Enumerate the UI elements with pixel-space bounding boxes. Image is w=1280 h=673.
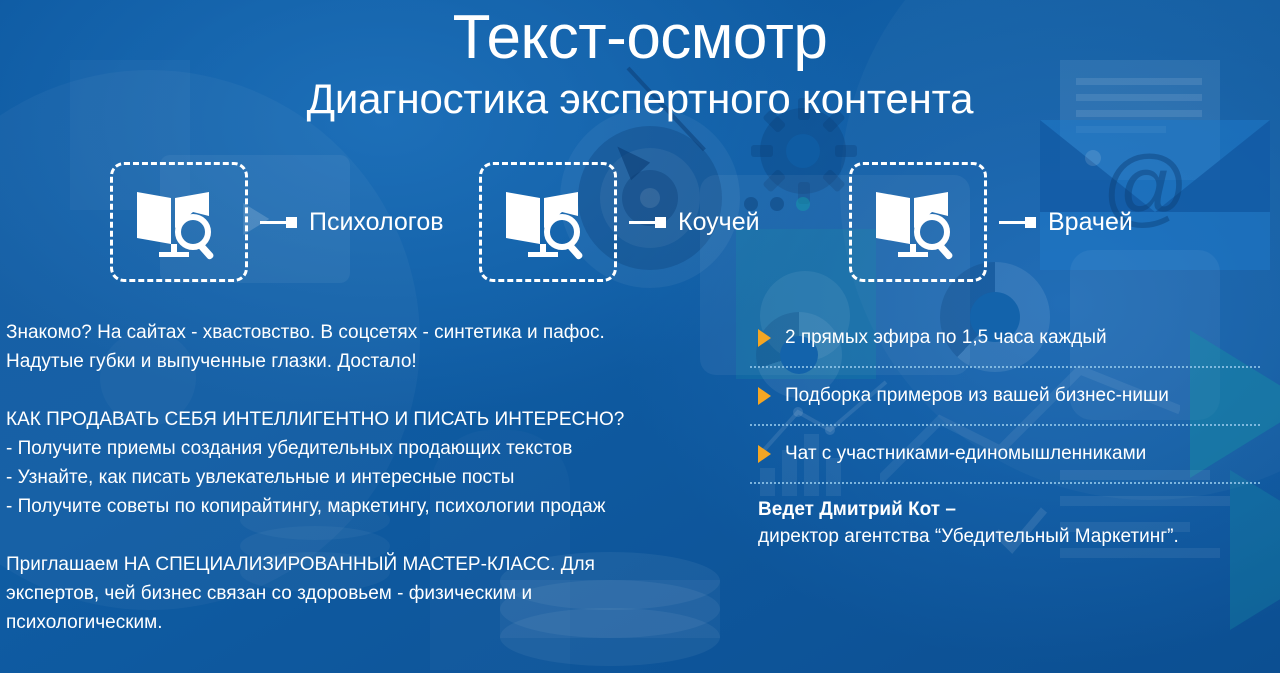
- hero-section: Текст-осмотр Диагностика экспертного кон…: [0, 0, 1280, 121]
- audience-card-frame: [110, 162, 248, 282]
- audience-card-coaches[interactable]: Коучей: [479, 162, 760, 282]
- intro-line-2: Надутые губки и выпученные глазки. Доста…: [6, 347, 712, 376]
- feature-text: 2 прямых эфира по 1,5 часа каждый: [785, 325, 1107, 351]
- offer-heading: КАК ПРОДАВАТЬ СЕБЯ ИНТЕЛЛИГЕНТНО И ПИСАТ…: [6, 405, 712, 434]
- landing-page: Текст-осмотр Диагностика экспертного кон…: [0, 0, 1280, 673]
- invite-line-3: психологическим.: [6, 608, 712, 637]
- triangle-right-icon: [758, 329, 771, 347]
- feature-divider: [750, 424, 1260, 426]
- feature-item: 2 прямых эфира по 1,5 часа каждый: [748, 316, 1260, 360]
- audience-card-label: Психологов: [309, 208, 444, 237]
- offer-item-1: - Получите приемы создания убедительных …: [6, 434, 712, 463]
- card-connector: [260, 217, 297, 228]
- connector-line: [629, 221, 655, 224]
- page-title: Текст-осмотр: [0, 6, 1280, 70]
- audience-card-frame: [849, 162, 987, 282]
- connector-square: [286, 217, 297, 228]
- page-subtitle: Диагностика экспертного контента: [0, 76, 1280, 121]
- connector-square: [1025, 217, 1036, 228]
- card-connector: [999, 217, 1036, 228]
- audience-card-frame: [479, 162, 617, 282]
- triangle-right-icon: [758, 445, 771, 463]
- connector-line: [999, 221, 1025, 224]
- feature-text: Чат с участниками-единомышленниками: [785, 441, 1146, 467]
- book-magnifier-icon: [131, 182, 227, 262]
- feature-item: Подборка примеров из вашей бизнес-ниши: [748, 374, 1260, 418]
- feature-text: Подборка примеров из вашей бизнес-ниши: [785, 383, 1169, 409]
- audience-card-doctors[interactable]: Врачей: [849, 162, 1133, 282]
- host-info: Ведет Дмитрий Кот – директор агентства “…: [758, 496, 1260, 550]
- feature-item: Чат с участниками-единомышленниками: [748, 432, 1260, 476]
- host-role: директор агентства “Убедительный Маркети…: [758, 523, 1260, 550]
- offer-item-3: - Получите советы по копирайтингу, марке…: [6, 492, 712, 521]
- audience-card-label: Коучей: [678, 208, 760, 237]
- card-connector: [629, 217, 666, 228]
- right-feature-column: 2 прямых эфира по 1,5 часа каждый Подбор…: [748, 316, 1260, 550]
- invite-line-1: Приглашаем НА СПЕЦИАЛИЗИРОВАННЫЙ МАСТЕР-…: [6, 550, 712, 579]
- connector-square: [655, 217, 666, 228]
- paragraph-spacer: [6, 521, 712, 550]
- offer-item-2: - Узнайте, как писать увлекательные и ин…: [6, 463, 712, 492]
- host-name: Ведет Дмитрий Кот –: [758, 496, 1260, 523]
- invite-line-2: экспертов, чей бизнес связан со здоровье…: [6, 579, 712, 608]
- audience-cards: Психологов: [0, 162, 1280, 294]
- audience-card-psychologists[interactable]: Психологов: [110, 162, 444, 282]
- connector-line: [260, 221, 286, 224]
- intro-line-1: Знакомо? На сайтах - хвастовство. В соцс…: [6, 318, 712, 347]
- book-magnifier-icon: [870, 182, 966, 262]
- triangle-right-icon: [758, 387, 771, 405]
- feature-divider: [750, 482, 1260, 484]
- paragraph-spacer: [6, 376, 712, 405]
- feature-divider: [750, 366, 1260, 368]
- book-magnifier-icon: [500, 182, 596, 262]
- left-text-column: Знакомо? На сайтах - хвастовство. В соцс…: [6, 318, 712, 637]
- audience-card-label: Врачей: [1048, 208, 1133, 237]
